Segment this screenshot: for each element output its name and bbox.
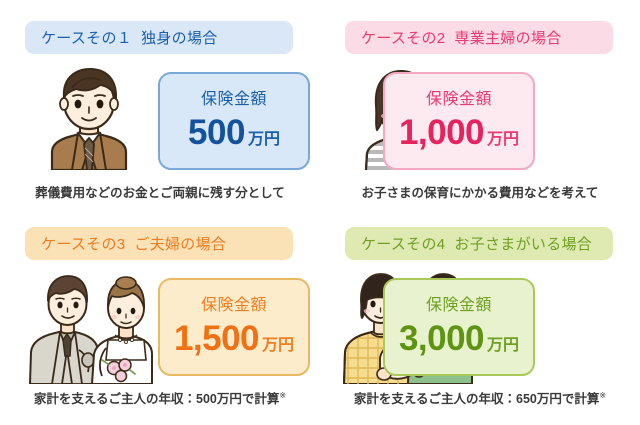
case-caption-text-3: 家計を支えるご主人の年収：500万円で計算	[34, 392, 279, 406]
case-header-label-2: ケースその2専業主婦の場合	[361, 27, 562, 48]
wedding-couple-illustration	[22, 272, 154, 384]
amount-label-4: 保険金額	[426, 298, 492, 314]
amount-label-1: 保険金額	[201, 92, 267, 108]
case-title-4: お子さまがいる場合	[454, 236, 592, 253]
amount-box-3: 保険金額 1,500 万円	[158, 278, 310, 376]
amount-unit-4: 万円	[487, 338, 519, 354]
amount-value-2: 1,000 万円	[399, 115, 519, 150]
amount-unit-3: 万円	[262, 338, 294, 354]
case-caption-text-4: 家計を支えるご主人の年収：650万円で計算	[354, 392, 599, 406]
amount-value-3: 1,500 万円	[174, 321, 294, 356]
amount-value-4: 3,000 万円	[399, 321, 519, 356]
case-caption-text-2: お子さまの保育にかかる費用などを考えて	[362, 186, 599, 200]
case-caption-1: 葬儀費用などのお金とご両親に残す分として	[0, 182, 320, 201]
amount-number-4: 3,000	[399, 321, 484, 356]
businessman-illustration	[28, 66, 150, 170]
case-caption-3: 家計を支えるご主人の年収：500万円で計算※	[0, 388, 320, 407]
amount-box-4: 保険金額 3,000 万円	[383, 278, 535, 376]
case-card-1: ケースその１独身の場合	[0, 0, 320, 212]
case-number-1: ケースその１	[41, 30, 132, 47]
case-number-3: ケースその3	[41, 236, 125, 253]
amount-label-3: 保険金額	[201, 298, 267, 314]
case-title-2: 専業主婦の場合	[454, 30, 561, 47]
case-header-2: ケースその2専業主婦の場合	[345, 21, 613, 54]
amount-number-3: 1,500	[174, 321, 259, 356]
case-caption-text-1: 葬儀費用などのお金とご両親に残す分として	[35, 186, 285, 200]
case-card-4: ケースその4お子さまがいる場合	[320, 212, 640, 424]
case-caption-4: 家計を支えるご主人の年収：650万円で計算※	[320, 388, 640, 407]
case-header-1: ケースその１独身の場合	[25, 21, 293, 54]
insurance-cases-infographic: ケースその１独身の場合	[0, 0, 640, 425]
case-number-2: ケースその2	[361, 30, 445, 47]
case-header-label-1: ケースその１独身の場合	[41, 27, 218, 48]
amount-value-1: 500 万円	[188, 115, 280, 150]
case-card-2: ケースその2専業主婦の場合	[320, 0, 640, 212]
amount-box-2: 保険金額 1,000 万円	[383, 72, 535, 170]
case-number-4: ケースその4	[361, 236, 445, 253]
case-card-3: ケースその3ご夫婦の場合	[0, 212, 320, 424]
amount-box-1: 保険金額 500 万円	[158, 72, 310, 170]
case-caption-note-4: ※	[599, 391, 606, 400]
case-header-label-4: ケースその4お子さまがいる場合	[361, 233, 592, 254]
amount-number-2: 1,000	[399, 115, 484, 150]
amount-unit-2: 万円	[487, 132, 519, 148]
case-caption-2: お子さまの保育にかかる費用などを考えて	[320, 182, 640, 201]
amount-label-2: 保険金額	[426, 92, 492, 108]
case-caption-note-3: ※	[279, 391, 286, 400]
amount-unit-1: 万円	[248, 132, 280, 148]
case-title-1: 独身の場合	[141, 30, 218, 47]
case-header-label-3: ケースその3ご夫婦の場合	[41, 233, 226, 254]
case-title-3: ご夫婦の場合	[134, 236, 226, 253]
case-header-3: ケースその3ご夫婦の場合	[25, 227, 293, 260]
amount-number-1: 500	[188, 115, 245, 150]
case-header-4: ケースその4お子さまがいる場合	[345, 227, 613, 260]
